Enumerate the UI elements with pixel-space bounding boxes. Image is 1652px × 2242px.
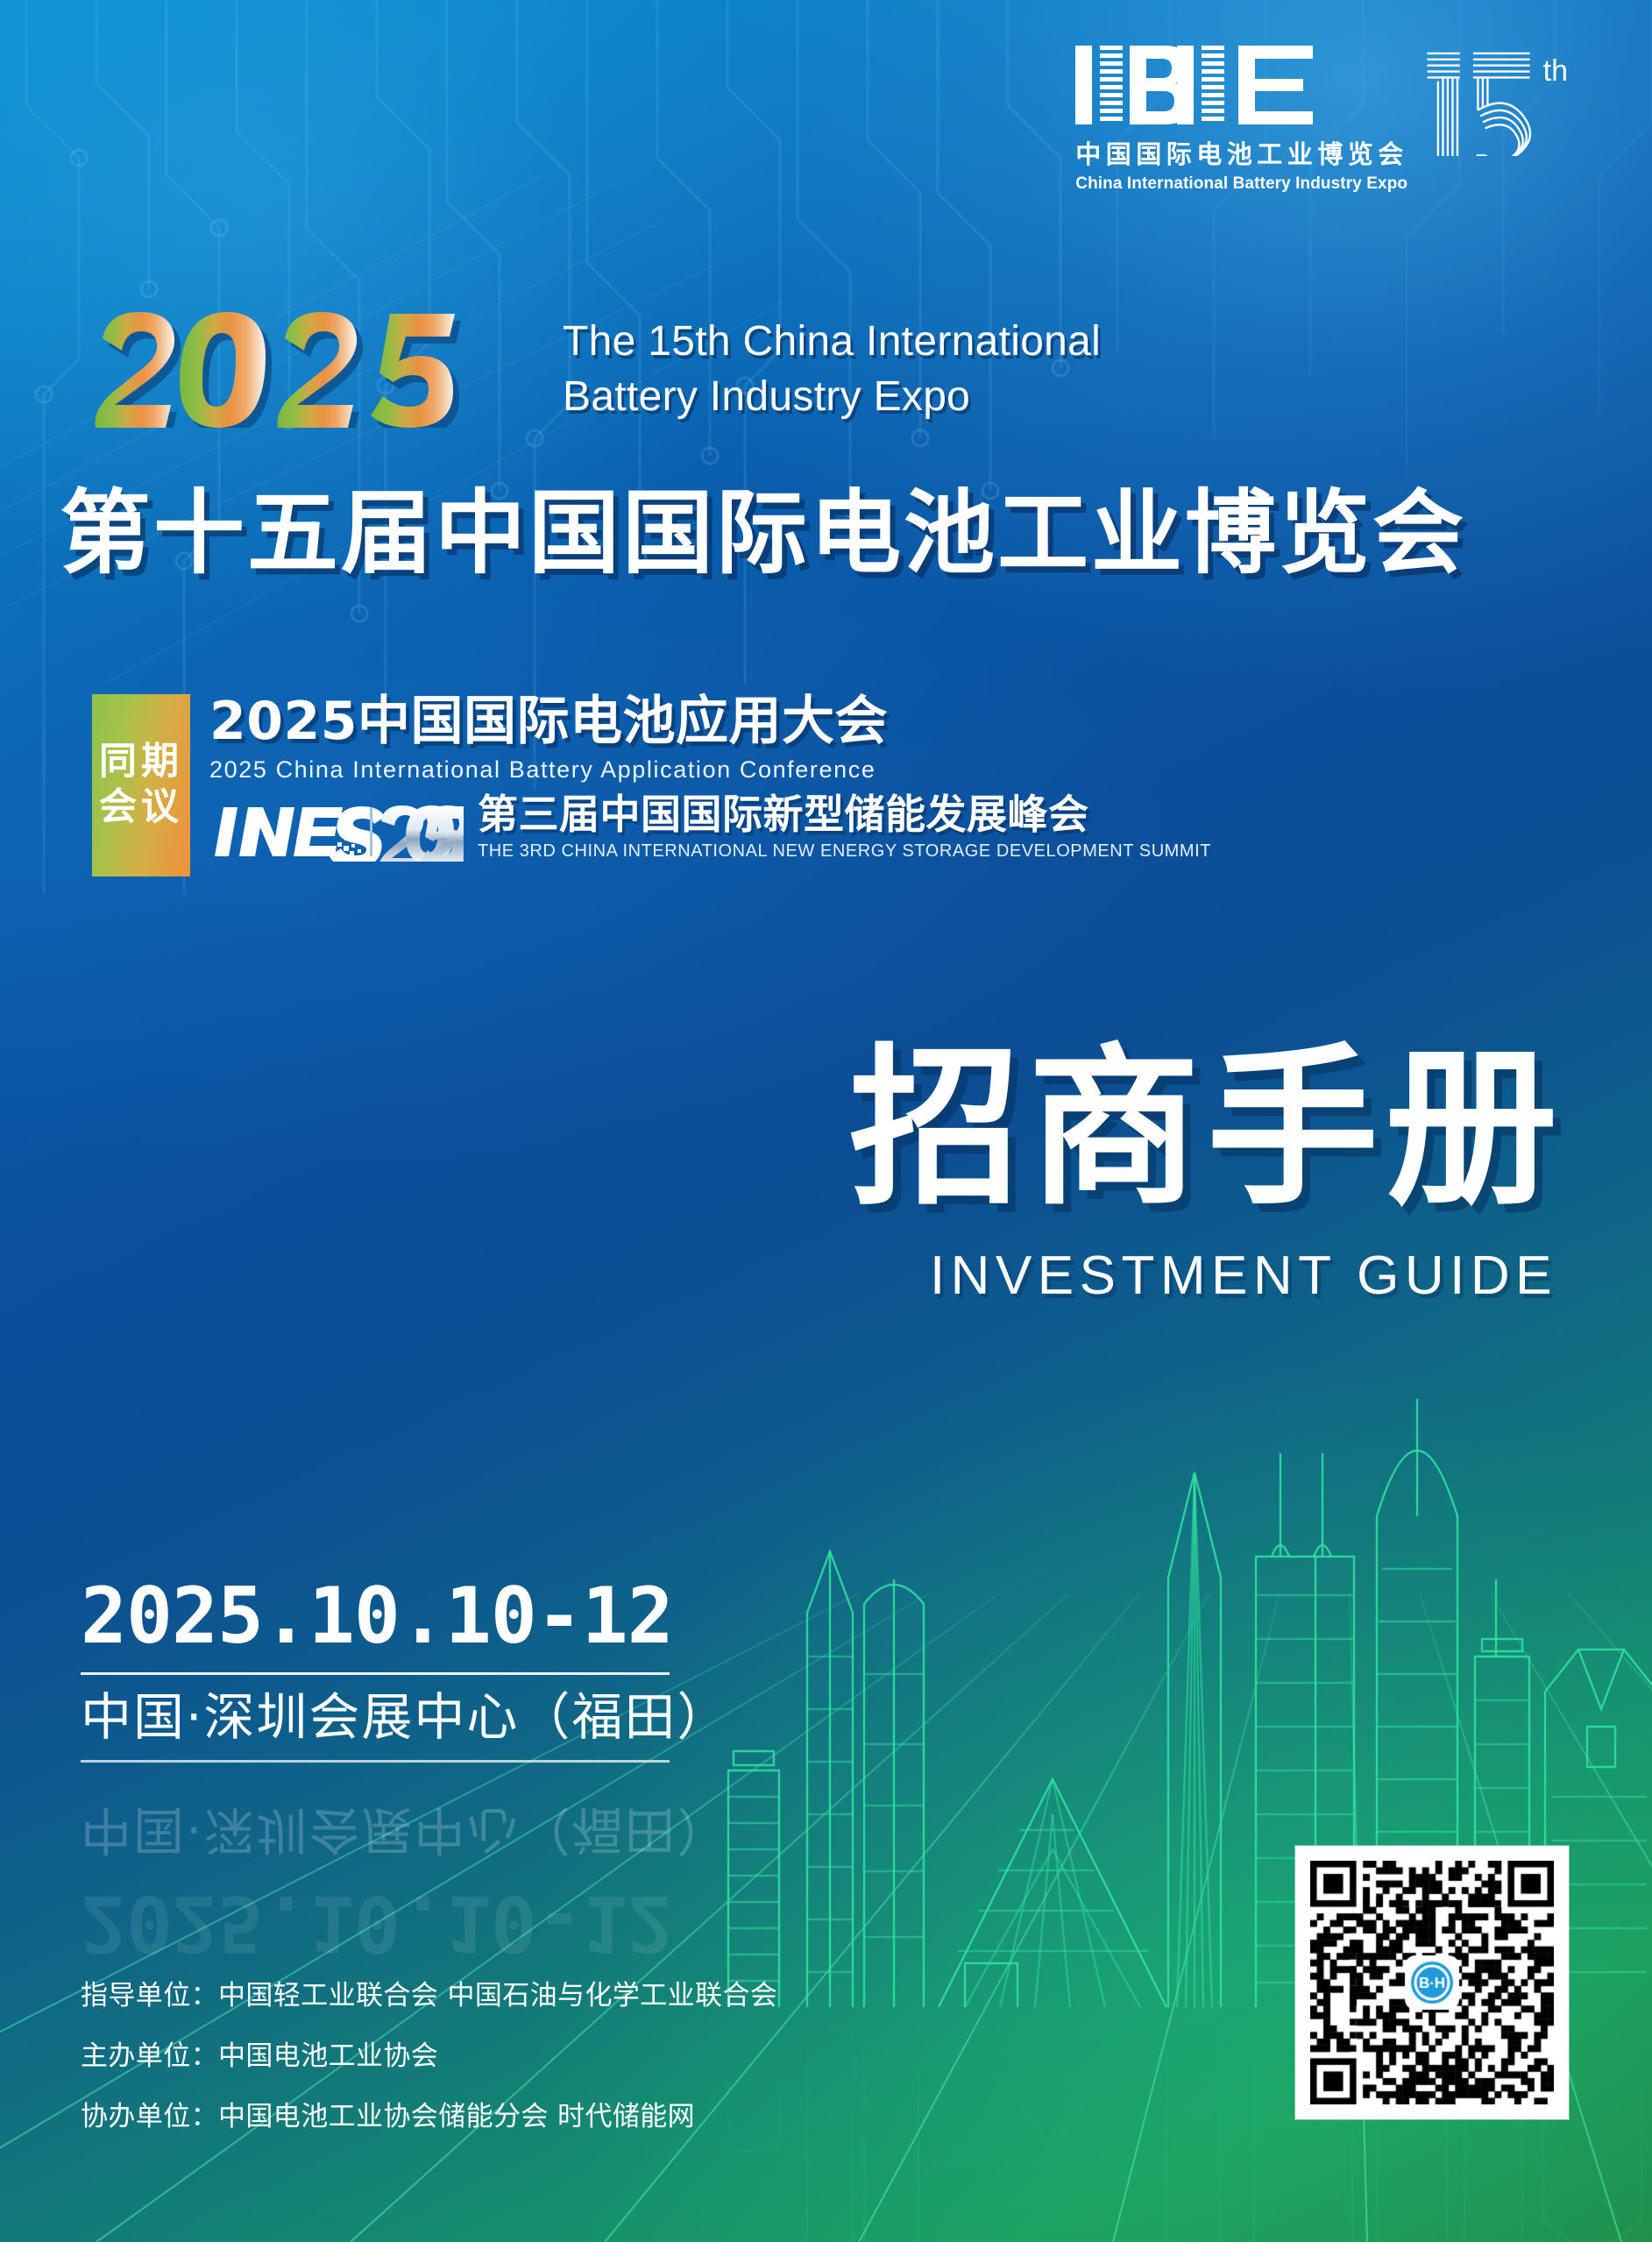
conference-event-1: 2025中国国际电池应用大会 2025 China International … (209, 694, 1211, 784)
ibie-name-cn: 中国国际电池工业博览会 (1075, 134, 1408, 171)
hero-title-cn: 招商手册 (849, 1043, 1564, 1215)
event-venue-reflection: 中国·深圳会展中心（福田） (81, 1801, 670, 1858)
conference-2-title-en: THE 3RD CHINA INTERNATIONAL NEW ENERGY S… (478, 841, 1211, 862)
event-date: 2025.10.10-12 (81, 1578, 670, 1655)
year-and-english-title-row: The 15th China International Battery Ind… (84, 309, 1101, 428)
qr-code[interactable] (1295, 1846, 1569, 2119)
content-layer: 中国国际电池工业博览会 China International Battery … (0, 0, 1652, 2242)
badge-line-2: 会议 (99, 788, 183, 828)
event-venue: 中国·深圳会展中心（福田） (81, 1689, 670, 1746)
date-divider (81, 1672, 670, 1675)
poster-root: 中国国际电池工业博览会 China International Battery … (0, 0, 1652, 2242)
conference-event-2: 第三届中国国际新型储能发展峰会 THE 3RD CHINA INTERNATIO… (209, 794, 1211, 862)
conference-1-title-cn: 2025中国国际电池应用大会 (209, 694, 1211, 749)
credit-coorganizer-unit: 协办单位：中国电池工业协会储能分会 时代储能网 (81, 2104, 777, 2131)
credit-guidance-unit: 指导单位：中国轻工业联合会 中国石油与化学工业联合会 (81, 1983, 777, 2010)
ibie-name-en: China International Battery Industry Exp… (1075, 174, 1407, 194)
organizer-credits: 指导单位：中国轻工业联合会 中国石油与化学工业联合会 主办单位：中国电池工业协会… (81, 1983, 777, 2131)
credit-host-unit: 主办单位：中国电池工业协会 (81, 2043, 777, 2070)
conference-2-title-cn: 第三届中国国际新型储能发展峰会 (478, 794, 1211, 834)
concurrent-badge: 同期 会议 (92, 694, 190, 876)
edition-suffix: th (1543, 54, 1568, 89)
concurrent-conference-block: 同期 会议 2025中国国际电池应用大会 2025 China Internat… (92, 694, 1211, 876)
event-date-venue-block: 2025.10.10-12 中国·深圳会展中心（福田） (81, 1578, 670, 1763)
hero-title-en: INVESTMENT GUIDE (849, 1245, 1557, 1307)
qr-code-canvas[interactable] (1310, 1861, 1554, 2104)
ibie-logo[interactable]: 中国国际电池工业博览会 China International Battery … (1075, 46, 1568, 194)
ines-titles: 第三届中国国际新型储能发展峰会 THE 3RD CHINA INTERNATIO… (478, 794, 1211, 862)
ines-logo-icon (209, 804, 464, 862)
edition-15-striped-icon (1422, 47, 1537, 156)
conference-1-title-en: 2025 China International Battery Applica… (209, 756, 1211, 784)
expo-title-cn: 第十五届中国国际电池工业博览会 (60, 487, 1466, 578)
year-2025-brush-icon (84, 305, 540, 428)
ibie-wordmark-icon (1075, 46, 1319, 124)
venue-divider (81, 1760, 670, 1763)
event-date-reflection: 2025.10.10-12 (81, 1884, 670, 1962)
ibie-edition: th (1422, 47, 1568, 156)
concurrent-events: 2025中国国际电池应用大会 2025 China International … (209, 694, 1211, 876)
hero-title-block: 招商手册 INVESTMENT GUIDE (849, 1043, 1564, 1307)
badge-line-1: 同期 (99, 742, 183, 783)
ibie-logo-left: 中国国际电池工业博览会 China International Battery … (1075, 46, 1408, 194)
expo-title-en: The 15th China International Battery Ind… (563, 314, 1101, 425)
